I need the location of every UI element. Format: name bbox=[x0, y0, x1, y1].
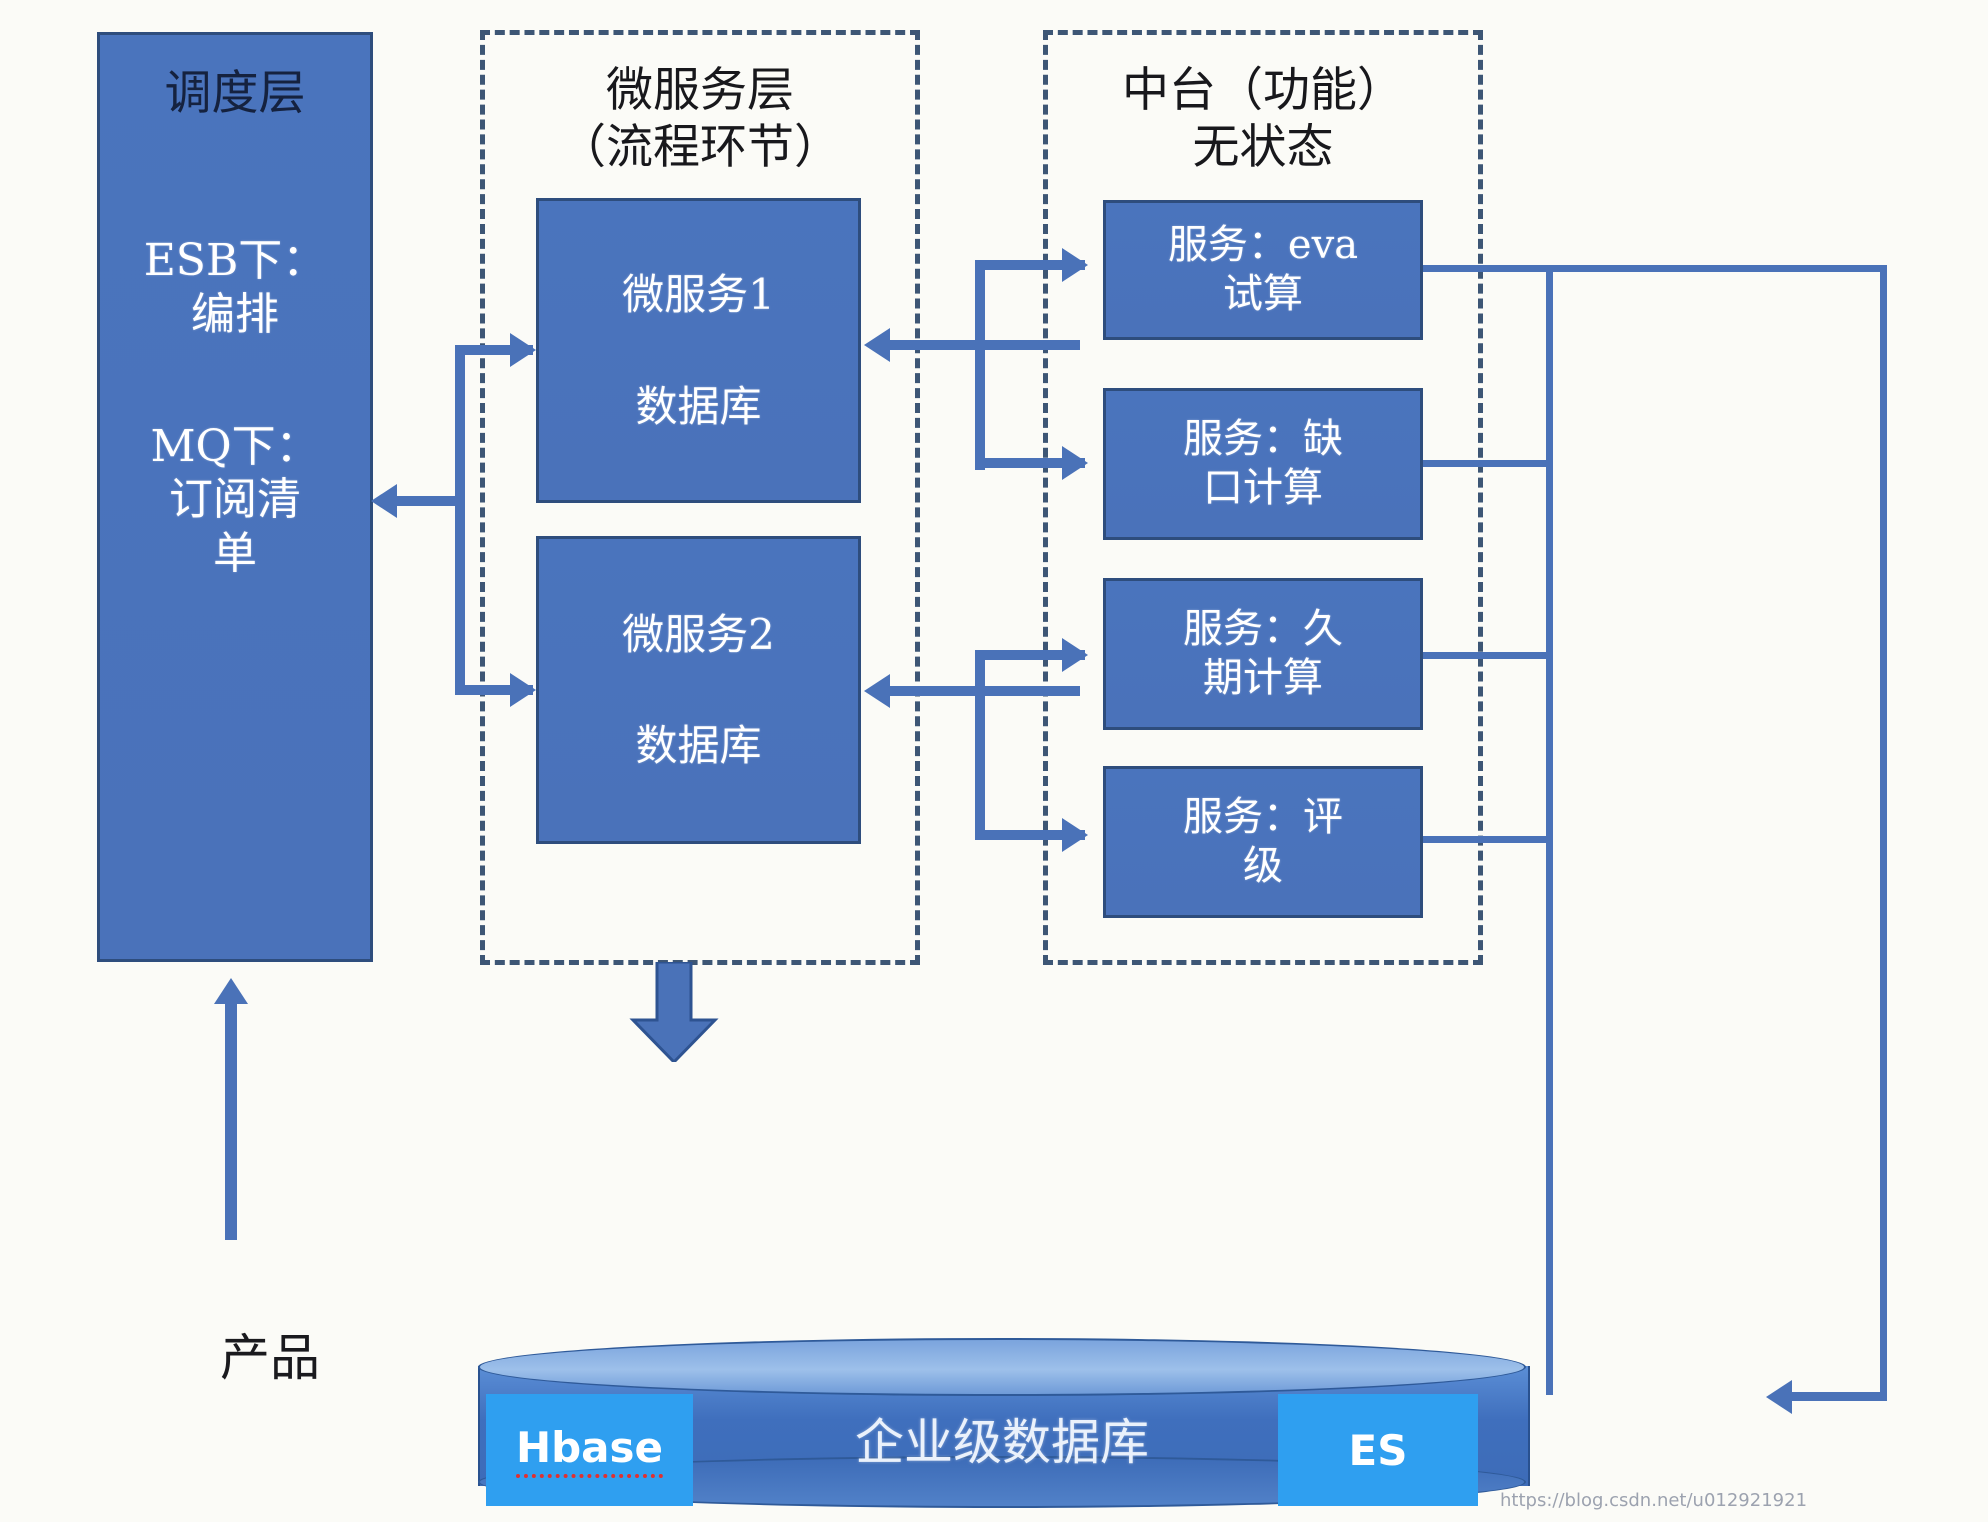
microservice-2-box[interactable]: 微服务2 数据库 bbox=[536, 536, 861, 844]
scheduling-esb-text: ESB下： 编排 bbox=[144, 234, 327, 341]
product-label: 产品 bbox=[155, 1318, 385, 1390]
microservice-layer-title: 微服务层 （流程环节） bbox=[470, 62, 930, 177]
ms1-svc-gap-arrow-head bbox=[1062, 446, 1088, 480]
ms2-svc-rating-arrow-head bbox=[1062, 818, 1088, 852]
microservice-1-db: 数据库 bbox=[635, 381, 761, 432]
scheduling-layer-title: 调度层 bbox=[165, 65, 306, 122]
middle-platform-title: 中台（功能） 无状态 bbox=[1033, 62, 1493, 177]
sched-ms1-arrow-head bbox=[510, 333, 536, 367]
ms2-svc-duration-arrow-head bbox=[1062, 638, 1088, 672]
hbase-tag-label: Hbase bbox=[516, 1423, 663, 1478]
service-eva-label: 服务：eva 试算 bbox=[1168, 221, 1358, 319]
sched-ms-bus-vertical bbox=[455, 345, 465, 695]
microservice-2-name: 微服务2 bbox=[622, 609, 775, 660]
ms-sched-return-arrow-head bbox=[371, 484, 397, 518]
service-rating-label: 服务：评 级 bbox=[1183, 793, 1343, 891]
service-rail-top-link bbox=[1546, 265, 1887, 272]
svc-ms1-return-line bbox=[890, 340, 1080, 350]
service-duration-calc-label: 服务：久 期计算 bbox=[1183, 605, 1343, 703]
service-output-rail bbox=[1546, 265, 1553, 1395]
service-output-rail-segment-right bbox=[1880, 265, 1887, 1395]
product-arrow-shaft bbox=[225, 1000, 237, 1240]
layer-to-database-arrow bbox=[629, 962, 719, 1062]
es-tag[interactable]: ES bbox=[1278, 1394, 1478, 1506]
watermark-text: https://blog.csdn.net/u012921921 bbox=[1500, 1490, 1807, 1511]
es-feed-arrow-head bbox=[1766, 1380, 1792, 1414]
hbase-tag[interactable]: Hbase bbox=[486, 1394, 693, 1506]
es-feed-line bbox=[1790, 1392, 1887, 1401]
product-arrow-head bbox=[214, 978, 248, 1004]
microservice-1-box[interactable]: 微服务1 数据库 bbox=[536, 198, 861, 503]
service-eva-right-stub bbox=[1423, 265, 1553, 272]
es-tag-label: ES bbox=[1349, 1426, 1408, 1475]
svc-ms2-return-arrow-head bbox=[864, 674, 890, 708]
microservice-2-db: 数据库 bbox=[635, 720, 761, 771]
svc-ms2-return-line bbox=[890, 686, 1080, 696]
scheduling-mq-text: MQ下： 订阅清 单 bbox=[150, 420, 319, 581]
svc-ms1-return-arrow-head bbox=[864, 328, 890, 362]
database-top-ellipse bbox=[478, 1338, 1526, 1396]
ms1-svc-eva-arrow-head bbox=[1062, 248, 1088, 282]
ms-sched-return-line bbox=[395, 496, 463, 506]
service-duration-calc-box[interactable]: 服务：久 期计算 bbox=[1103, 578, 1423, 730]
service-gap-calc-box[interactable]: 服务：缺 口计算 bbox=[1103, 388, 1423, 540]
ms2-svc-bus-vertical bbox=[975, 650, 985, 840]
service-rating-box[interactable]: 服务：评 级 bbox=[1103, 766, 1423, 918]
service-rating-right-stub bbox=[1423, 836, 1553, 843]
service-gap-right-stub bbox=[1423, 460, 1553, 467]
service-duration-right-stub bbox=[1423, 652, 1553, 659]
sched-ms2-arrow-head bbox=[510, 673, 536, 707]
diagram-canvas: 调度层 ESB下： 编排 MQ下： 订阅清 单 产品 微服务层 （流程环节） 微… bbox=[0, 0, 1988, 1522]
ms1-svc-bus-vertical bbox=[975, 260, 985, 470]
microservice-1-name: 微服务1 bbox=[622, 269, 775, 320]
service-eva-box[interactable]: 服务：eva 试算 bbox=[1103, 200, 1423, 340]
scheduling-layer-box[interactable]: 调度层 ESB下： 编排 MQ下： 订阅清 单 bbox=[97, 32, 373, 962]
service-gap-calc-label: 服务：缺 口计算 bbox=[1183, 415, 1343, 513]
enterprise-database-cylinder[interactable]: 企业级数据库 Hbase ES bbox=[478, 1338, 1526, 1513]
